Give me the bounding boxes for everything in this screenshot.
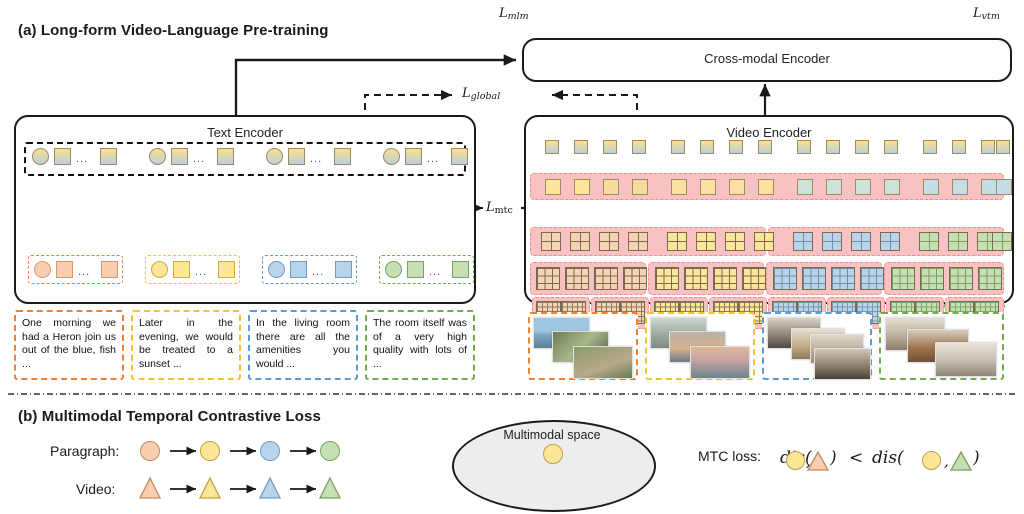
video-encoder-title: Video Encoder bbox=[526, 125, 1012, 140]
video-patch bbox=[713, 267, 737, 290]
token-cls bbox=[268, 261, 285, 278]
video-token bbox=[758, 140, 772, 154]
token-ellipsis: ... bbox=[78, 267, 90, 278]
video-patch bbox=[948, 232, 968, 251]
mtc-loss-label: MTC loss: bbox=[698, 448, 761, 464]
video-patch bbox=[919, 232, 939, 251]
video-cell bbox=[545, 179, 561, 195]
token-ellipsis: ... bbox=[427, 154, 439, 165]
mtc-formula-lt: < bbox=[849, 448, 863, 468]
video-patch bbox=[570, 232, 590, 251]
video-patch bbox=[822, 232, 842, 251]
mtc-circle-2 bbox=[922, 451, 941, 470]
video-patch bbox=[541, 232, 561, 251]
video-token bbox=[996, 140, 1010, 154]
paragraph-box-2: Later in the evening, we would be treate… bbox=[131, 310, 241, 380]
mtc-formula-comma-1: , bbox=[806, 452, 811, 470]
loss-global-label: Lglobal bbox=[462, 86, 500, 102]
token-square bbox=[54, 148, 71, 165]
mtc-formula-paren-3: ( bbox=[897, 448, 904, 468]
paragraph-box-1: One morning we had a Heron join us out o… bbox=[14, 310, 124, 380]
token-square bbox=[56, 261, 73, 278]
loss-mtc-label: Lmtc bbox=[486, 200, 513, 216]
cross-modal-encoder-box: Cross-modal Encoder bbox=[522, 38, 1012, 82]
token-cls bbox=[149, 148, 166, 165]
video-cell bbox=[952, 179, 968, 195]
video-token bbox=[671, 140, 685, 154]
video-token bbox=[855, 140, 869, 154]
video-token bbox=[545, 140, 559, 154]
video-cell bbox=[574, 179, 590, 195]
video-patch bbox=[851, 232, 871, 251]
video-patch bbox=[594, 267, 618, 290]
token-square bbox=[405, 148, 422, 165]
text-input-group-4: ... bbox=[379, 255, 474, 284]
token-cls bbox=[385, 261, 402, 278]
text-encoder-title: Text Encoder bbox=[16, 125, 474, 140]
paragraph-legend-label: Paragraph: bbox=[50, 443, 119, 459]
video-cell bbox=[671, 179, 687, 195]
loss-mlm-label: Lmlm bbox=[499, 6, 529, 22]
video-patch bbox=[802, 267, 826, 290]
token-ellipsis: ... bbox=[193, 154, 205, 165]
video-patch bbox=[565, 267, 589, 290]
video-token bbox=[700, 140, 714, 154]
video-cell bbox=[884, 179, 900, 195]
video-clip-box-2 bbox=[645, 312, 755, 380]
video-token bbox=[981, 140, 995, 154]
token-cls bbox=[266, 148, 283, 165]
multimodal-space-label: Multimodal space bbox=[452, 428, 652, 442]
mtc-formula-comma-2: , bbox=[944, 452, 949, 470]
video-cell bbox=[758, 179, 774, 195]
token-ellipsis: ... bbox=[195, 267, 207, 278]
video-output-tokens bbox=[524, 140, 1010, 158]
video-patch bbox=[831, 267, 855, 290]
video-thumbnail bbox=[573, 346, 633, 379]
video-marker-3 bbox=[260, 478, 280, 498]
video-cell bbox=[729, 179, 745, 195]
cross-modal-encoder-title: Cross-modal Encoder bbox=[524, 51, 1010, 66]
token-square bbox=[288, 148, 305, 165]
panel-a-title: (a) Long-form Video-Language Pre-trainin… bbox=[18, 22, 329, 39]
token-square bbox=[335, 261, 352, 278]
video-patch bbox=[628, 232, 648, 251]
video-patch bbox=[754, 232, 774, 251]
video-patch bbox=[793, 232, 813, 251]
mtc-formula-dis-2: dis bbox=[872, 448, 897, 468]
mtc-formula-paren-2: ) bbox=[830, 448, 837, 468]
mtc-circle-1 bbox=[786, 451, 805, 470]
video-patch bbox=[978, 267, 1002, 290]
video-patch bbox=[725, 232, 745, 251]
video-cell bbox=[923, 179, 939, 195]
video-patch bbox=[667, 232, 687, 251]
video-patch bbox=[891, 267, 915, 290]
video-marker-2 bbox=[200, 478, 220, 498]
token-square bbox=[407, 261, 424, 278]
video-token bbox=[884, 140, 898, 154]
video-clip-box-3 bbox=[762, 312, 872, 380]
paragraph-marker-4 bbox=[320, 441, 340, 461]
token-cls bbox=[32, 148, 49, 165]
paragraph-marker-1 bbox=[140, 441, 160, 461]
token-square bbox=[218, 261, 235, 278]
video-patch bbox=[696, 232, 716, 251]
token-square bbox=[290, 261, 307, 278]
video-cell bbox=[632, 179, 648, 195]
video-token bbox=[952, 140, 966, 154]
video-patch bbox=[949, 267, 973, 290]
video-patch bbox=[992, 232, 1012, 251]
video-clip-box-1 bbox=[528, 312, 638, 380]
figure-root: (a) Long-form Video-Language Pre-trainin… bbox=[0, 0, 1024, 514]
video-patch bbox=[742, 267, 766, 290]
token-square bbox=[451, 148, 468, 165]
paragraph-marker-2 bbox=[200, 441, 220, 461]
video-cell bbox=[981, 179, 997, 195]
token-ellipsis: ... bbox=[310, 154, 322, 165]
text-input-group-3: ... bbox=[262, 255, 357, 284]
video-patch bbox=[773, 267, 797, 290]
token-square bbox=[217, 148, 234, 165]
video-token bbox=[826, 140, 840, 154]
video-cell bbox=[826, 179, 842, 195]
mm-circle-yellow bbox=[543, 444, 563, 464]
video-patch bbox=[623, 267, 647, 290]
video-level2-cells bbox=[530, 227, 1004, 256]
video-token bbox=[574, 140, 588, 154]
token-cls bbox=[383, 148, 400, 165]
panel-b-title: (b) Multimodal Temporal Contrastive Loss bbox=[18, 408, 321, 425]
video-cell bbox=[700, 179, 716, 195]
token-square bbox=[101, 261, 118, 278]
video-patch bbox=[536, 267, 560, 290]
video-thumbnail bbox=[690, 346, 750, 379]
video-cell bbox=[603, 179, 619, 195]
token-square bbox=[334, 148, 351, 165]
video-level1-band bbox=[530, 173, 1004, 200]
video-patch bbox=[684, 267, 708, 290]
text-input-group-1: ... bbox=[28, 255, 123, 284]
token-cls bbox=[34, 261, 51, 278]
token-ellipsis: ... bbox=[429, 267, 441, 278]
video-patch bbox=[860, 267, 884, 290]
video-marker-4 bbox=[320, 478, 340, 498]
mtc-formula-paren-4: ) bbox=[973, 448, 980, 468]
video-patch bbox=[599, 232, 619, 251]
video-patch bbox=[655, 267, 679, 290]
video-token bbox=[603, 140, 617, 154]
video-marker-1 bbox=[140, 478, 160, 498]
video-thumbnail bbox=[935, 342, 997, 377]
video-patch bbox=[880, 232, 900, 251]
video-thumbnail bbox=[814, 348, 871, 380]
loss-vtm-label: Lvtm bbox=[973, 6, 1000, 22]
video-clip-box-4 bbox=[879, 312, 1004, 380]
video-token bbox=[923, 140, 937, 154]
paragraph-box-4: The room itself was of a very high quali… bbox=[365, 310, 475, 380]
token-ellipsis: ... bbox=[76, 154, 88, 165]
video-token bbox=[729, 140, 743, 154]
video-legend-label: Video: bbox=[76, 481, 115, 497]
video-cell bbox=[996, 179, 1012, 195]
token-square bbox=[452, 261, 469, 278]
video-token bbox=[797, 140, 811, 154]
video-cell bbox=[797, 179, 813, 195]
paragraph-marker-3 bbox=[260, 441, 280, 461]
token-square bbox=[100, 148, 117, 165]
text-input-group-2: ... bbox=[145, 255, 240, 284]
video-cell bbox=[855, 179, 871, 195]
text-output-token-strip bbox=[24, 142, 466, 176]
video-level3-cells bbox=[530, 262, 1004, 295]
mtc-triangle-green bbox=[951, 452, 971, 470]
token-cls bbox=[151, 261, 168, 278]
paragraph-box-3: In the living room there are all the ame… bbox=[248, 310, 358, 380]
video-token bbox=[632, 140, 646, 154]
video-patch bbox=[920, 267, 944, 290]
token-square bbox=[173, 261, 190, 278]
token-square bbox=[171, 148, 188, 165]
token-ellipsis: ... bbox=[312, 267, 324, 278]
